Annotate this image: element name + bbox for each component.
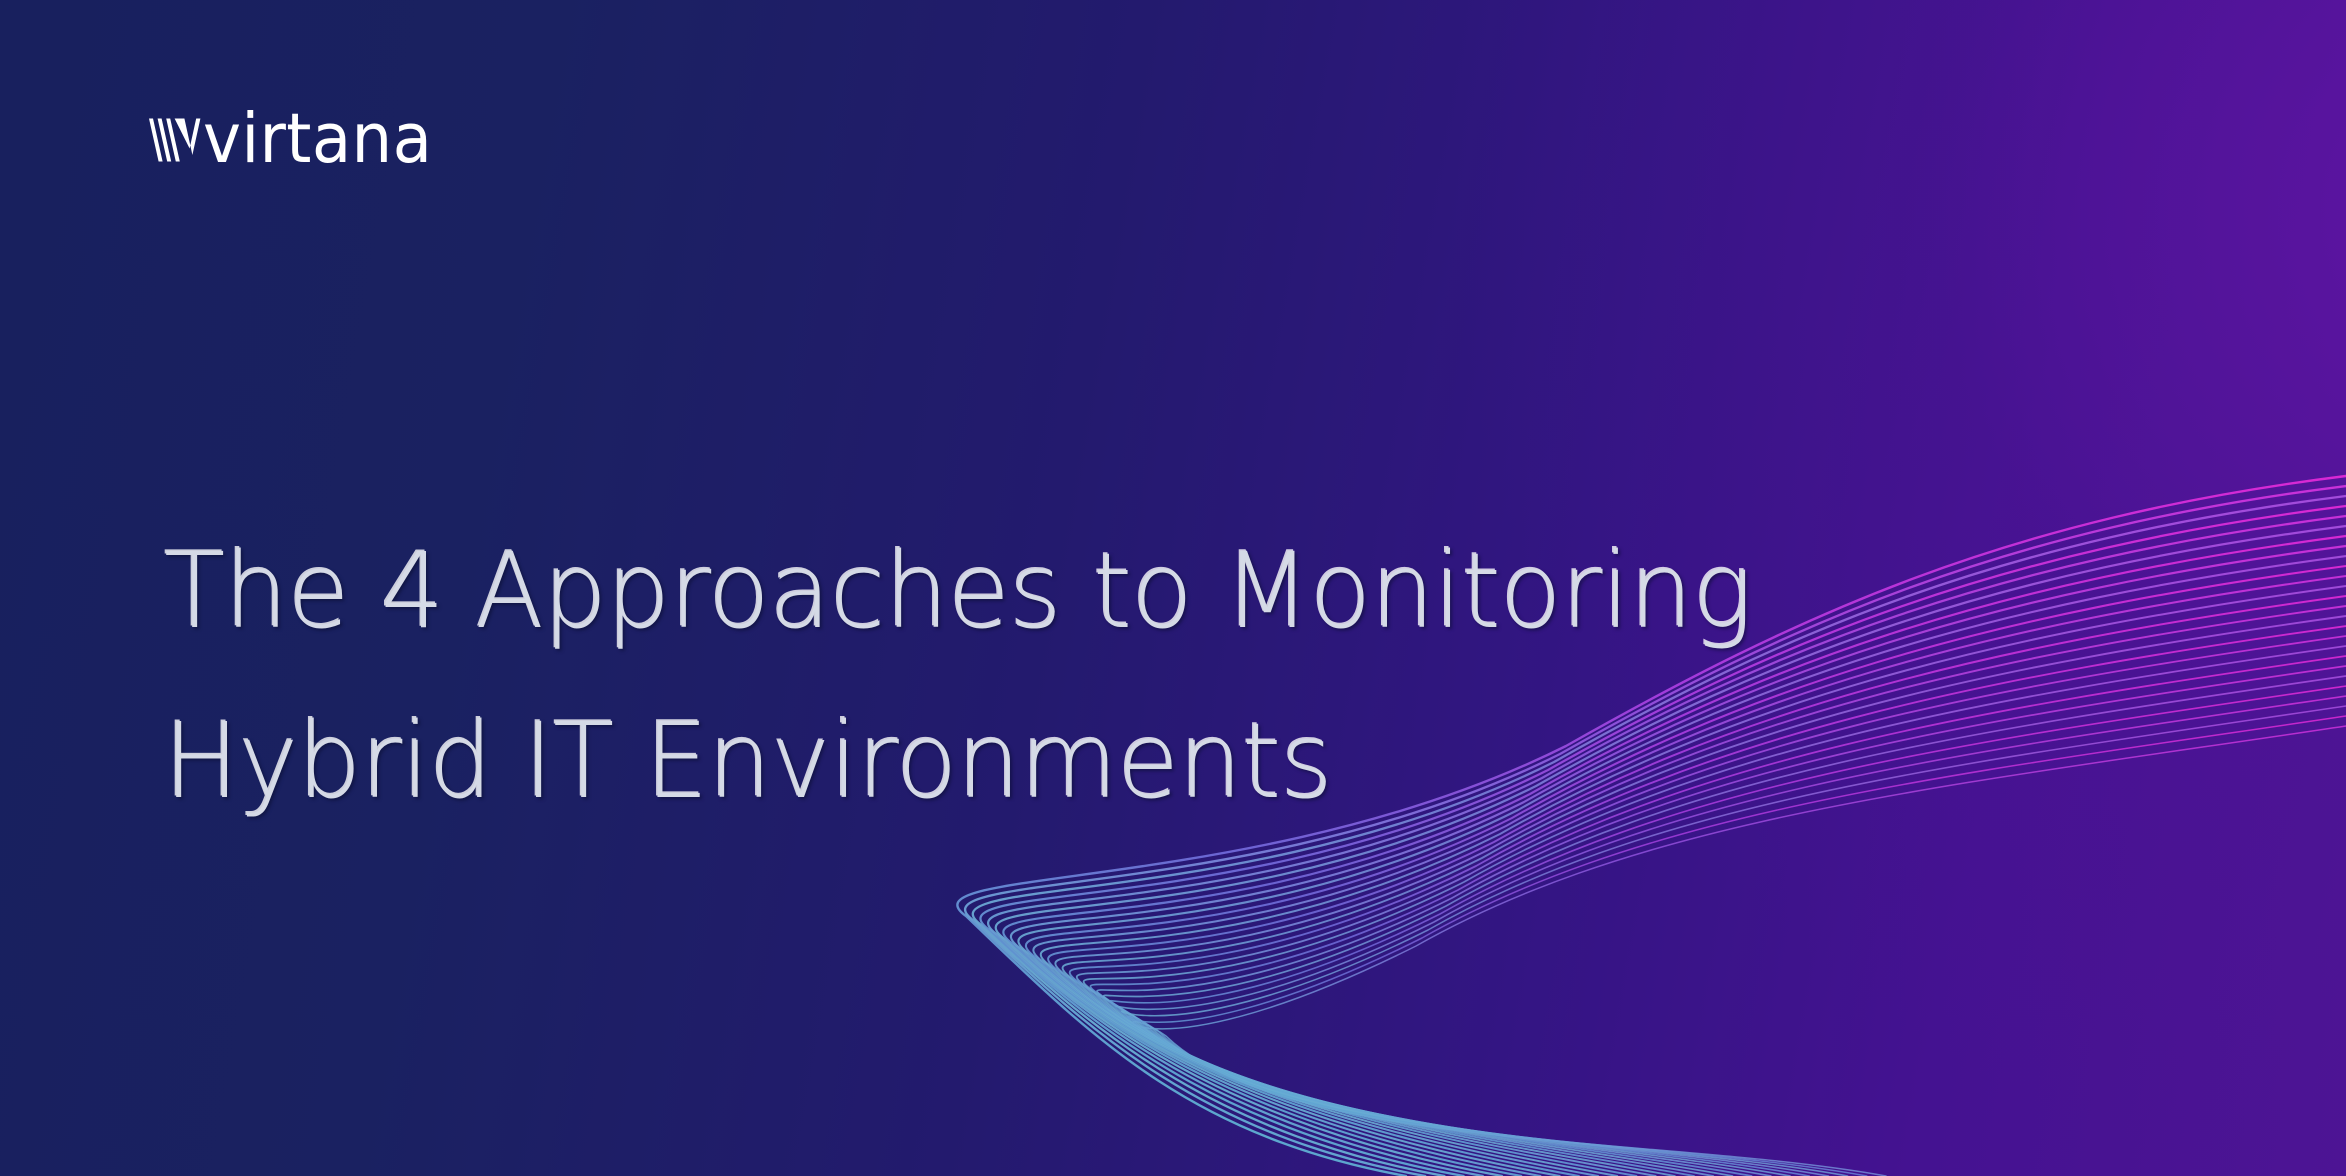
virtana-triple-stroke-v-icon (148, 112, 202, 168)
page-title-line-1: The 4 Approaches to Monitoring (164, 506, 1862, 676)
page-title: The 4 Approaches to Monitoring Hybrid IT… (164, 506, 1924, 846)
page-title-line-2: Hybrid IT Environments (164, 676, 1862, 846)
title-slide: virtana The 4 Approaches to Monitoring H… (0, 0, 2346, 1176)
virtana-logo[interactable]: virtana (148, 96, 450, 168)
virtana-wordmark: virtana (203, 111, 432, 168)
